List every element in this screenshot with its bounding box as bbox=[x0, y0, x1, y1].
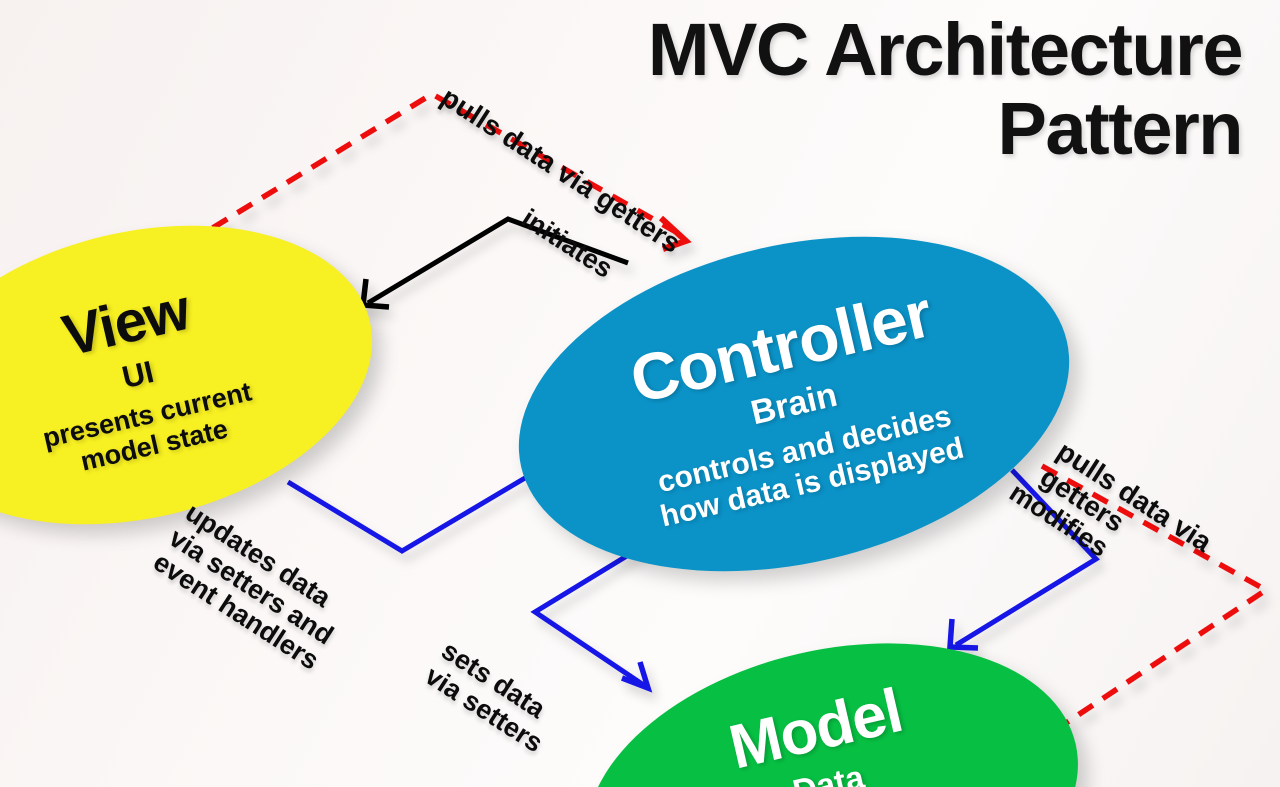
edge-updates-data bbox=[288, 478, 525, 551]
page-title: MVC Architecture Pattern bbox=[462, 10, 1242, 168]
diagram-canvas: MVC Architecture Pattern View UI present… bbox=[0, 0, 1280, 787]
node-view-subtitle: UI bbox=[119, 354, 157, 396]
node-model[interactable]: Model Data bbox=[555, 598, 1110, 787]
node-view-title: View bbox=[57, 276, 196, 370]
node-view-description: presents current model state bbox=[40, 377, 261, 484]
edge-sets-data bbox=[535, 543, 648, 688]
edge-label-updates-data: updates data via setters and event handl… bbox=[147, 498, 355, 676]
edge-label-sets-data: sets data via setters bbox=[420, 636, 564, 759]
